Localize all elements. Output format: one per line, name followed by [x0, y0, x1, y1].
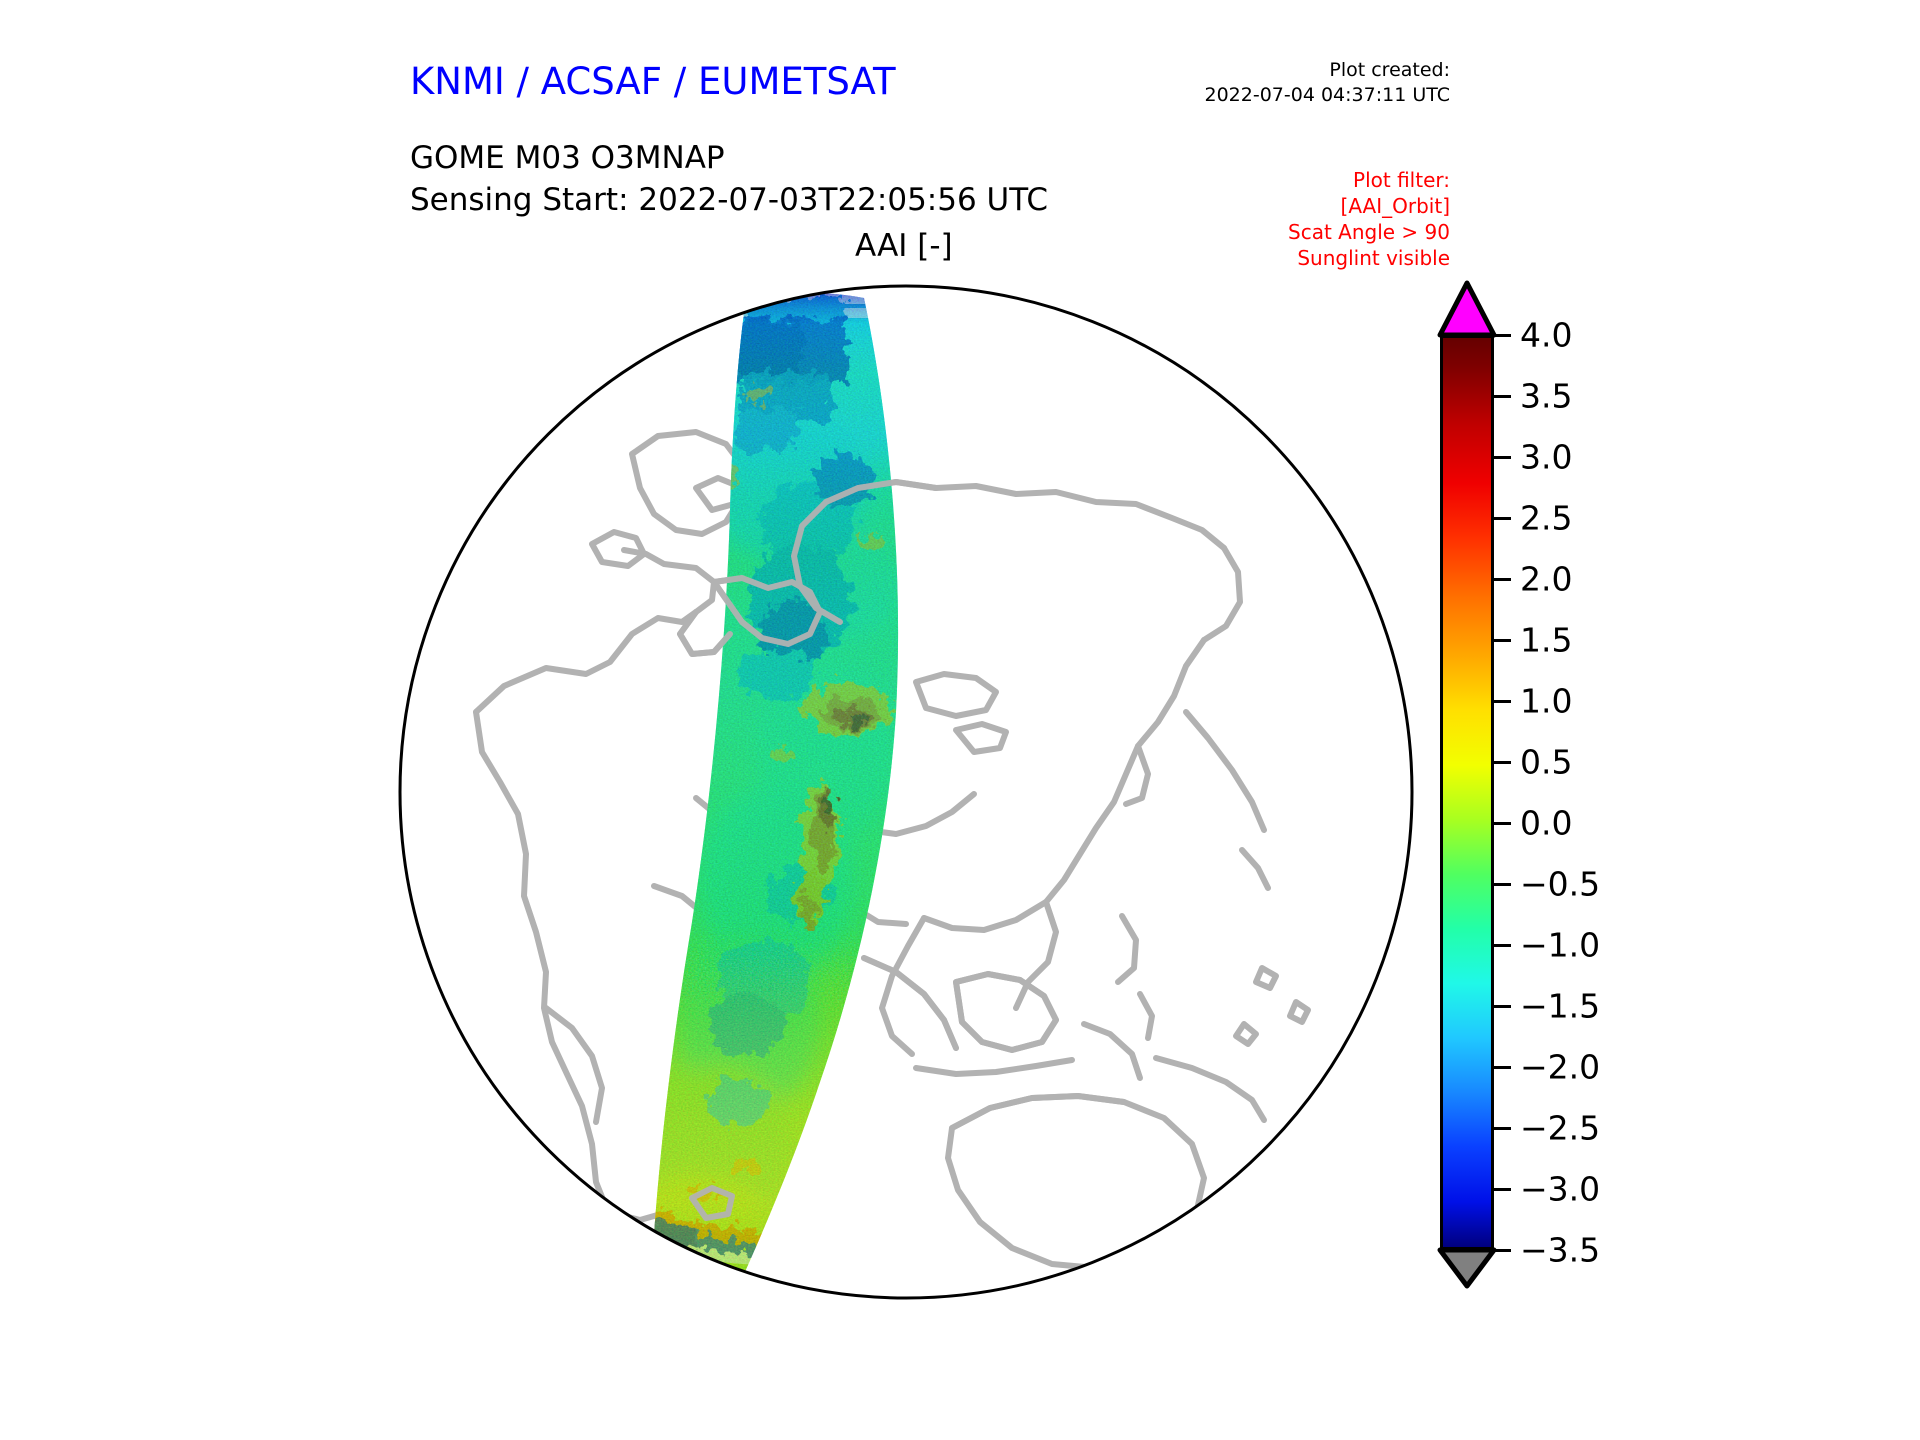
colorbar-tick — [1494, 1005, 1511, 1008]
colorbar-tick — [1494, 761, 1511, 764]
colorbar-tick — [1494, 517, 1511, 520]
colorbar-tick — [1494, 1249, 1511, 1252]
colorbar-tick — [1494, 456, 1511, 459]
colorbar-tick — [1494, 1188, 1511, 1191]
plot-created-timestamp: 2022-07-04 04:37:11 UTC — [1205, 83, 1451, 108]
colorbar-tick-label: 1.0 — [1520, 685, 1572, 718]
colorbar-tick-label: 0.5 — [1520, 746, 1572, 779]
plot-filter-line-0: Plot filter: — [1288, 167, 1450, 193]
colorbar-tick-label: 4.0 — [1520, 319, 1572, 352]
colorbar-under-range-outline — [1437, 1247, 1497, 1289]
colorbar-tick-label: 3.5 — [1520, 380, 1572, 413]
colorbar-tick — [1494, 1066, 1511, 1069]
colorbar-tick — [1494, 639, 1511, 642]
colorbar-tick — [1494, 578, 1511, 581]
colorbar-tick — [1494, 944, 1511, 947]
colorbar-tick — [1494, 700, 1511, 703]
colorbar[interactable]: 4.03.53.02.52.01.51.00.50.0−0.5−1.0−1.5−… — [1432, 278, 1852, 1290]
colorbar-tick-label: −2.0 — [1520, 1051, 1600, 1084]
plot-created-block: Plot created: 2022-07-04 04:37:11 UTC — [1205, 58, 1451, 108]
colorbar-over-range-outline — [1437, 280, 1497, 338]
plot-title-block: GOME M03 O3MNAP Sensing Start: 2022-07-0… — [410, 137, 1048, 221]
colorbar-tick-label: −2.5 — [1520, 1112, 1600, 1145]
plot-filter-block: Plot filter: [AAI_Orbit] Scat Angle > 90… — [1288, 167, 1450, 271]
colorbar-tick — [1494, 822, 1511, 825]
plot-title-line1: GOME M03 O3MNAP — [410, 137, 1048, 179]
colorbar-tick-label: 1.5 — [1520, 624, 1572, 657]
colorbar-tick — [1494, 1127, 1511, 1130]
globe-disc — [400, 286, 1412, 1298]
plot-filter-line-2: Scat Angle > 90 — [1288, 219, 1450, 245]
colorbar-tick-label: −3.5 — [1520, 1234, 1600, 1267]
colorbar-tick-label: 2.0 — [1520, 563, 1572, 596]
plot-title-line2: Sensing Start: 2022-07-03T22:05:56 UTC — [410, 179, 1048, 221]
colorbar-tick-label: 0.0 — [1520, 807, 1572, 840]
colorbar-tick — [1494, 395, 1511, 398]
organization-title: KNMI / ACSAF / EUMETSAT — [410, 60, 896, 103]
colorbar-tick-label: −1.5 — [1520, 990, 1600, 1023]
quantity-label: AAI [-] — [855, 228, 953, 264]
colorbar-tick — [1494, 334, 1511, 337]
plot-filter-line-1: [AAI_Orbit] — [1288, 193, 1450, 219]
plot-filter-line-3: Sunglint visible — [1288, 245, 1450, 271]
colorbar-tick-label: −0.5 — [1520, 868, 1600, 901]
plot-created-label: Plot created: — [1205, 58, 1451, 83]
colorbar-tick-label: 2.5 — [1520, 502, 1572, 535]
map-panel — [396, 282, 1416, 1302]
colorbar-tick-label: 3.0 — [1520, 441, 1572, 474]
colorbar-tick-label: −1.0 — [1520, 929, 1600, 962]
colorbar-tick — [1494, 883, 1511, 886]
colorbar-tick-label: −3.0 — [1520, 1173, 1600, 1206]
orthographic-globe — [396, 282, 1416, 1302]
colorbar-gradient — [1440, 335, 1494, 1250]
